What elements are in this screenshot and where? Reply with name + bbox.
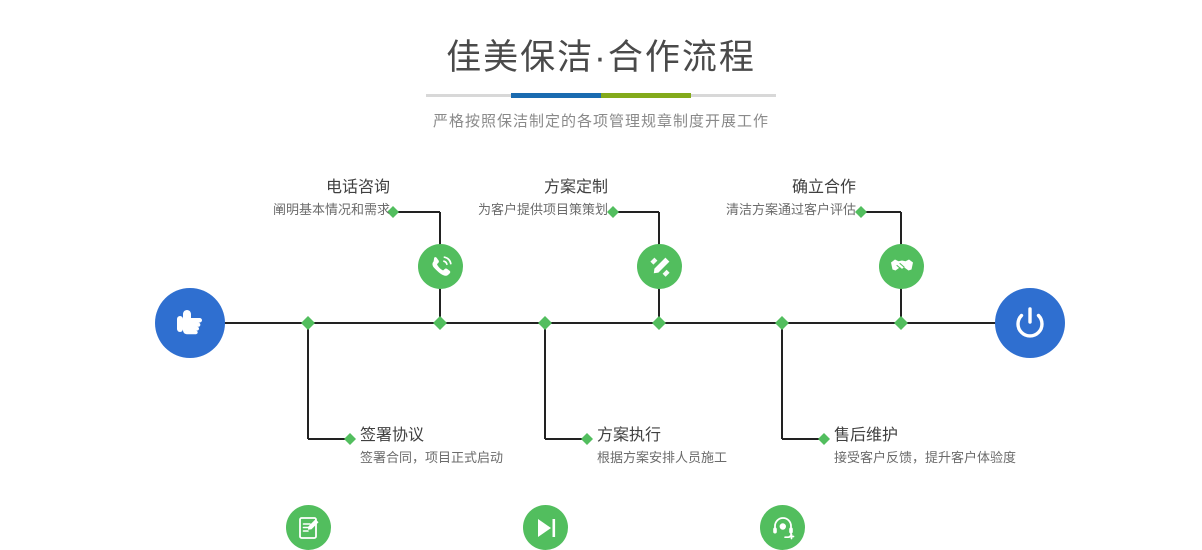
flow-start-node[interactable]: [155, 288, 225, 358]
step-icon-phone-call[interactable]: [418, 244, 463, 289]
step-label-3: 方案定制 为客户提供项目策策划: [455, 178, 608, 219]
play-execute-icon: [533, 515, 559, 541]
step-label-4: 方案执行 根据方案安排人员施工: [597, 426, 727, 467]
phone-call-icon: [428, 254, 454, 280]
document-pen-icon: [296, 515, 322, 541]
step-icon-headset-plus[interactable]: [760, 505, 805, 550]
power-icon: [1010, 303, 1050, 343]
step-icon-document-pen[interactable]: [286, 505, 331, 550]
headset-plus-icon: [770, 515, 796, 541]
step-desc: 清洁方案通过客户评估: [700, 201, 856, 219]
page-title: 佳美保洁·合作流程: [0, 38, 1202, 78]
pencil-ruler-icon: [647, 254, 673, 280]
step-label-1: 电话咨询 阐明基本情况和需求: [252, 178, 390, 219]
flow-infographic-page: 佳美保洁·合作流程 严格按照保洁制定的各项管理规章制度开展工作: [0, 0, 1202, 502]
step-desc: 接受客户反馈，提升客户体验度: [834, 449, 1016, 467]
step-desc: 根据方案安排人员施工: [597, 449, 727, 467]
divider-green-segment: [601, 93, 691, 98]
process-flow-diagram: 电话咨询 阐明基本情况和需求 方案定制 为客户提供项目策策划 确立合作 清洁方案…: [0, 150, 1202, 502]
page-subtitle: 严格按照保洁制定的各项管理规章制度开展工作: [0, 110, 1202, 131]
step-title: 电话咨询: [252, 178, 390, 198]
step-title: 签署协议: [360, 426, 503, 446]
hand-point-right-icon: [170, 303, 210, 343]
step-title: 方案定制: [455, 178, 608, 198]
step-desc: 签署合同，项目正式启动: [360, 449, 503, 467]
handshake-icon: [888, 253, 916, 281]
divider-blue-segment: [511, 93, 601, 98]
step-label-5: 确立合作 清洁方案通过客户评估: [700, 178, 856, 219]
title-divider: [426, 94, 776, 97]
step-desc: 为客户提供项目策策划: [455, 201, 608, 219]
step-icon-play-execute[interactable]: [523, 505, 568, 550]
step-title: 售后维护: [834, 426, 1016, 446]
step-icon-handshake[interactable]: [879, 244, 924, 289]
step-label-2: 签署协议 签署合同，项目正式启动: [360, 426, 503, 467]
step-icon-pencil-ruler[interactable]: [637, 244, 682, 289]
page-header: 佳美保洁·合作流程 严格按照保洁制定的各项管理规章制度开展工作: [0, 0, 1202, 131]
step-title: 确立合作: [700, 178, 856, 198]
step-label-6: 售后维护 接受客户反馈，提升客户体验度: [834, 426, 1016, 467]
flow-end-node[interactable]: [995, 288, 1065, 358]
step-title: 方案执行: [597, 426, 727, 446]
step-desc: 阐明基本情况和需求: [252, 201, 390, 219]
label-anchor-diamonds: [344, 206, 867, 445]
